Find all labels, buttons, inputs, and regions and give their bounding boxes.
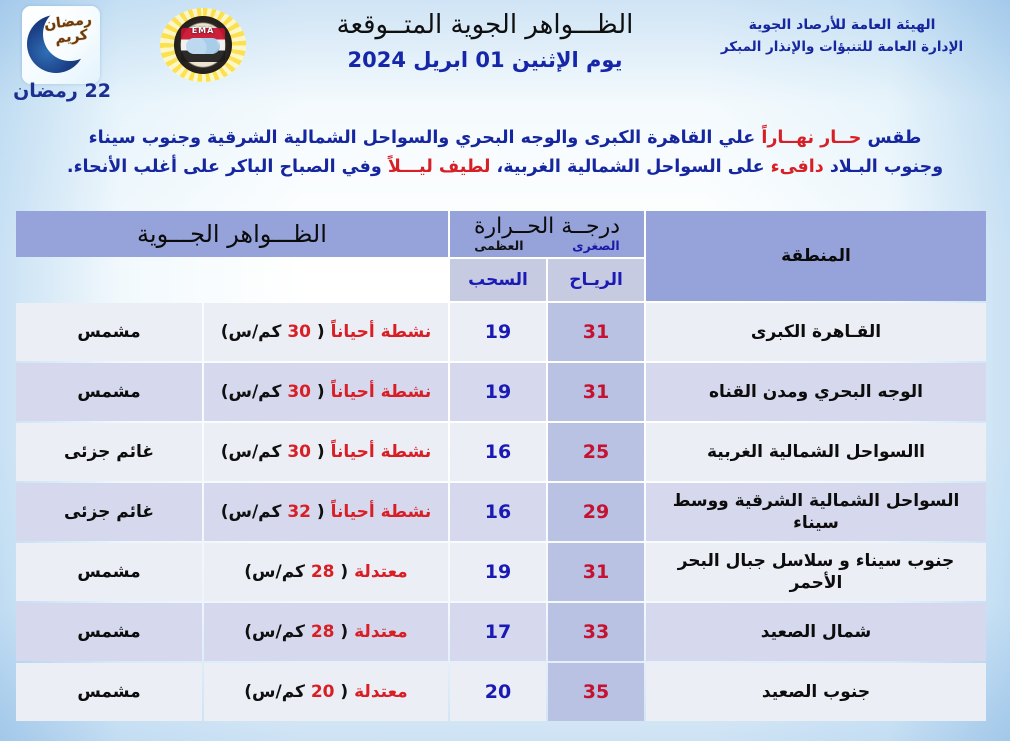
- ramadan-calligraphy-text: رمضان كريم: [47, 12, 95, 51]
- wind-speed-unit: كم/س): [221, 382, 288, 402]
- crescent-moon-icon: رمضان كريم: [22, 6, 100, 84]
- wind-speed-value: 28: [311, 562, 335, 582]
- page-background: رمضان كريم 22 رمضان EMA الظـــواهر الجوي…: [0, 0, 1010, 741]
- table-row: الوجه البحري ومدن القناه3119نشطة أحياناً…: [16, 363, 986, 421]
- cell-temperature-min: 19: [450, 363, 546, 421]
- agency-line-2: الإدارة العامة للتنبؤات والإنذار المبكر: [692, 36, 992, 58]
- cell-cloud: مشمس: [16, 363, 202, 421]
- forecast-table: المنطقة درجــة الحــرارة الصغرى العظمى ا…: [14, 209, 988, 723]
- cell-wind: معتدلة ( 20 كم/س): [204, 663, 448, 721]
- ramadan-logo: رمضان كريم: [22, 6, 100, 84]
- cell-region: القـاهرة الكبرى: [646, 303, 986, 361]
- wind-speed-value: 30: [287, 322, 311, 342]
- cell-temperature-max: 31: [548, 363, 644, 421]
- column-header-region: المنطقة: [646, 211, 986, 301]
- ramadan-day-label: 22 رمضان: [12, 80, 112, 102]
- wind-open-paren: (: [311, 382, 331, 402]
- cell-cloud: مشمس: [16, 303, 202, 361]
- cell-region: جنوب الصعيد: [646, 663, 986, 721]
- logo-core: EMA: [174, 16, 232, 74]
- cell-region: السواحل الشمالية الشرقية ووسط سيناء: [646, 483, 986, 541]
- table-header-row-groups: المنطقة درجــة الحــرارة الصغرى العظمى ا…: [16, 211, 986, 257]
- cell-wind: نشطة أحياناً ( 30 كم/س): [204, 423, 448, 481]
- summary-mild-phrase: لطيف ليـــلاً: [388, 157, 491, 177]
- wind-state: نشطة أحياناً: [331, 382, 432, 402]
- cell-temperature-min: 16: [450, 423, 546, 481]
- wind-speed-value: 30: [287, 442, 311, 462]
- forecast-table-container: المنطقة درجــة الحــرارة الصغرى العظمى ا…: [22, 209, 988, 723]
- wind-speed-unit: كم/س): [221, 502, 288, 522]
- page-header: رمضان كريم 22 رمضان EMA الظـــواهر الجوي…: [0, 0, 1010, 118]
- wind-open-paren: (: [335, 622, 355, 642]
- table-row: االسواحل الشمالية الغربية2516نشطة أحيانا…: [16, 423, 986, 481]
- wind-speed-unit: كم/س): [244, 622, 311, 642]
- summary-part-1: طقس: [861, 128, 921, 148]
- cell-wind: نشطة أحياناً ( 30 كم/س): [204, 303, 448, 361]
- wind-open-paren: (: [311, 442, 331, 462]
- wind-speed-unit: كم/س): [221, 322, 288, 342]
- page-title: الظـــواهر الجوية المتــوقعة: [265, 8, 705, 42]
- temperature-group-title: درجــة الحــرارة: [450, 214, 644, 240]
- table-row: شمال الصعيد3317معتدلة ( 28 كم/س)مشمس: [16, 603, 986, 661]
- table-body: القـاهرة الكبرى3119نشطة أحياناً ( 30 كم/…: [16, 303, 986, 721]
- column-header-tmax: العظمى: [474, 238, 523, 253]
- wind-state: معتدلة: [354, 622, 408, 642]
- agency-line-1: الهيئة العامة للأرصاد الجوية: [692, 14, 992, 36]
- cell-temperature-min: 19: [450, 303, 546, 361]
- cloud-icon: [186, 38, 220, 54]
- summary-part-3: على السواحل الشمالية الغربية،: [490, 157, 770, 177]
- wind-speed-value: 28: [311, 622, 335, 642]
- wind-speed-value: 20: [311, 682, 335, 702]
- summary-hot-phrase: حــار نهــاراً: [761, 128, 861, 148]
- agency-name: الهيئة العامة للأرصاد الجوية الإدارة الع…: [692, 14, 992, 58]
- cell-wind: نشطة أحياناً ( 32 كم/س): [204, 483, 448, 541]
- wind-open-paren: (: [335, 682, 355, 702]
- column-group-temperature: درجــة الحــرارة الصغرى العظمى: [450, 211, 644, 257]
- table-row: جنوب الصعيد3520معتدلة ( 20 كم/س)مشمس: [16, 663, 986, 721]
- cell-region: الوجه البحري ومدن القناه: [646, 363, 986, 421]
- summary-part-4: وفي الصباح الباكر على أغلب الأنحاء.: [67, 157, 388, 177]
- cell-temperature-max: 25: [548, 423, 644, 481]
- ema-authority-logo: EMA: [160, 8, 246, 82]
- wind-state: معتدلة: [354, 682, 408, 702]
- column-header-cloud: السحب: [450, 259, 546, 301]
- cell-cloud: مشمس: [16, 663, 202, 721]
- cell-wind: معتدلة ( 28 كم/س): [204, 543, 448, 601]
- table-row: جنوب سيناء و سلاسل جبال البحر الأحمر3119…: [16, 543, 986, 601]
- table-head: المنطقة درجــة الحــرارة الصغرى العظمى ا…: [16, 211, 986, 301]
- wind-state: نشطة أحياناً: [331, 322, 432, 342]
- cell-cloud: غائم جزئى: [16, 423, 202, 481]
- wind-speed-unit: كم/س): [221, 442, 288, 462]
- cell-region: االسواحل الشمالية الغربية: [646, 423, 986, 481]
- column-header-wind: الريـاح: [548, 259, 644, 301]
- cell-temperature-max: 29: [548, 483, 644, 541]
- wind-open-paren: (: [311, 502, 331, 522]
- wind-open-paren: (: [311, 322, 331, 342]
- wind-state: نشطة أحياناً: [331, 502, 432, 522]
- ema-abbreviation-label: EMA: [174, 26, 232, 35]
- cell-temperature-min: 17: [450, 603, 546, 661]
- cell-temperature-max: 31: [548, 303, 644, 361]
- wind-speed-value: 30: [287, 382, 311, 402]
- cell-region: جنوب سيناء و سلاسل جبال البحر الأحمر: [646, 543, 986, 601]
- wind-speed-unit: كم/س): [244, 682, 311, 702]
- cell-temperature-max: 31: [548, 543, 644, 601]
- wind-state: معتدلة: [354, 562, 408, 582]
- column-header-tmin: الصغرى: [572, 238, 620, 253]
- table-row: السواحل الشمالية الشرقية ووسط سيناء2916ن…: [16, 483, 986, 541]
- wind-open-paren: (: [335, 562, 355, 582]
- cell-temperature-max: 33: [548, 603, 644, 661]
- cell-wind: معتدلة ( 28 كم/س): [204, 603, 448, 661]
- cell-cloud: غائم جزئى: [16, 483, 202, 541]
- cell-wind: نشطة أحياناً ( 30 كم/س): [204, 363, 448, 421]
- table-row: القـاهرة الكبرى3119نشطة أحياناً ( 30 كم/…: [16, 303, 986, 361]
- title-block: الظـــواهر الجوية المتــوقعة يوم الإثنين…: [265, 8, 705, 74]
- cell-temperature-max: 35: [548, 663, 644, 721]
- cell-temperature-min: 19: [450, 543, 546, 601]
- cell-cloud: مشمس: [16, 543, 202, 601]
- cell-region: شمال الصعيد: [646, 603, 986, 661]
- cell-temperature-min: 20: [450, 663, 546, 721]
- cell-temperature-min: 16: [450, 483, 546, 541]
- wind-speed-unit: كم/س): [244, 562, 311, 582]
- forecast-summary: طقس حــار نهــاراً علي القاهرة الكبرى وا…: [60, 124, 950, 182]
- column-group-phenomena: الظـــواهر الجـــوية: [16, 211, 448, 257]
- summary-warm-phrase: دافىء: [771, 157, 824, 177]
- temperature-subheaders: الصغرى العظمى: [450, 238, 644, 253]
- forecast-date: يوم الإثنين 01 ابريل 2024: [265, 46, 705, 74]
- wind-speed-value: 32: [287, 502, 311, 522]
- wind-state: نشطة أحياناً: [331, 442, 432, 462]
- cell-cloud: مشمس: [16, 603, 202, 661]
